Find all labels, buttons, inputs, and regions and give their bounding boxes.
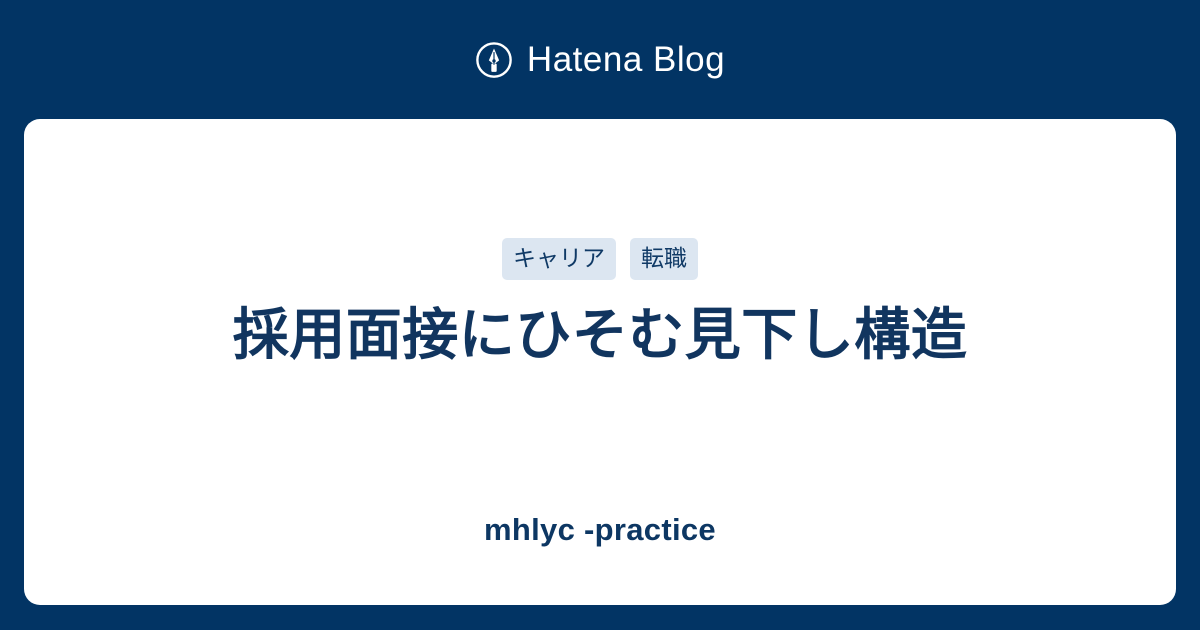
brand-name: Hatena Blog [527,42,725,77]
hatena-pen-nib-icon [475,41,513,79]
entry-card-main: キャリア 転職 採用面接にひそむ見下し構造 [24,119,1176,514]
blog-name[interactable]: mhlyc -practice [484,514,716,545]
entry-card: キャリア 転職 採用面接にひそむ見下し構造 mhlyc -practice [24,119,1176,605]
site-header: Hatena Blog [0,0,1200,119]
tag-list: キャリア 転職 [502,238,698,280]
tag-item-job-change[interactable]: 転職 [630,238,698,280]
entry-title: 採用面接にひそむ見下し構造 [233,302,968,368]
tag-item-career[interactable]: キャリア [502,238,616,280]
